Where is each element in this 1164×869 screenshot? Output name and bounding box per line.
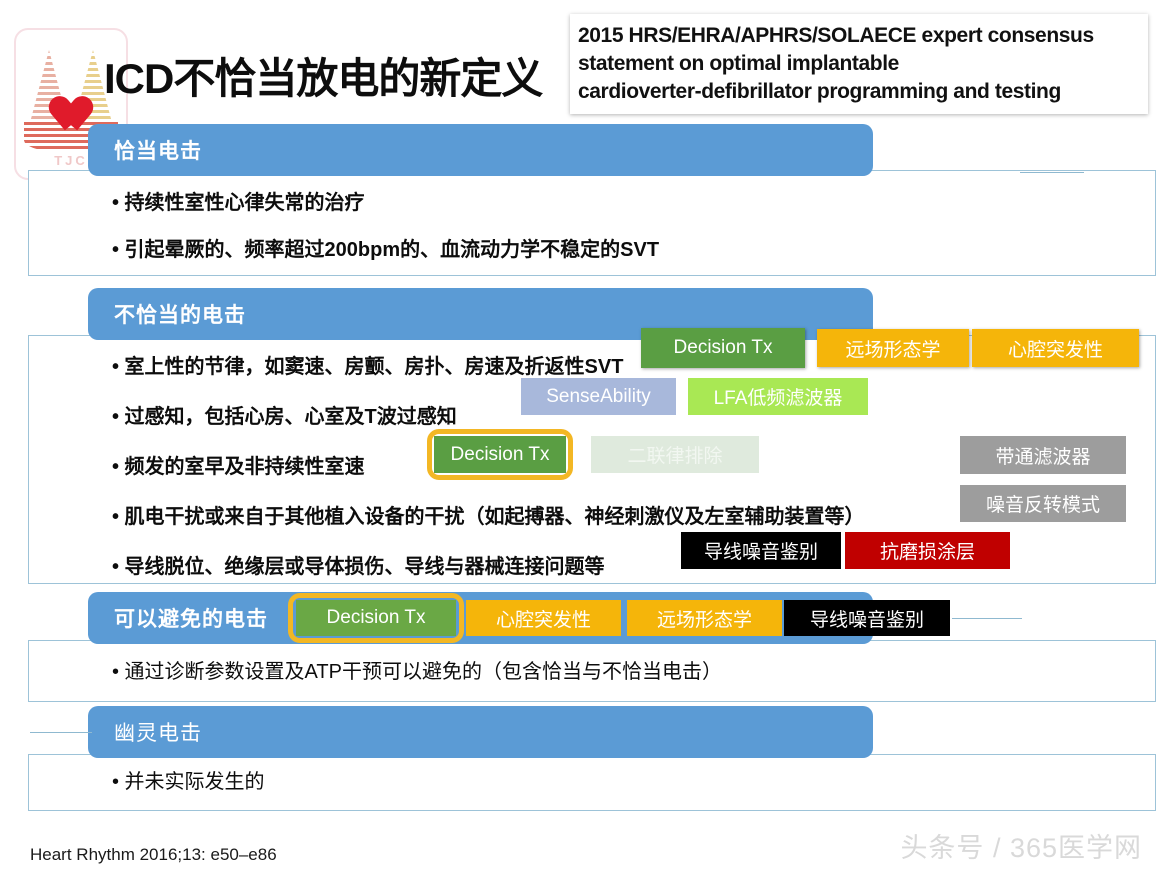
watermark: 头条号 / 365医学网 — [900, 826, 1142, 865]
tag-chamber-onset-1[interactable]: 心腔突发性 — [972, 329, 1139, 367]
section-header-label: 幽灵电击 — [114, 717, 202, 747]
bullet-item: • 肌电干扰或来自于其他植入设备的干扰（如起搏器、神经刺激仪及左室辅助装置等） — [112, 500, 865, 529]
citation-line-2: statement on optimal implantable — [578, 50, 1142, 78]
section-bullets-appropriate-shock: • 持续性室性心律失常的治疗 • 引起晕厥的、频率超过200bpm的、血流动力学… — [112, 186, 659, 262]
tag-label: 噪音反转模式 — [986, 490, 1100, 517]
tag-chamber-onset-2[interactable]: 心腔突发性 — [466, 600, 621, 636]
section-header-appropriate-shock: 恰当电击 — [88, 124, 873, 176]
tag-label: 远场形态学 — [657, 605, 752, 632]
connector-line-bottom — [30, 732, 92, 733]
connector-line-top — [1020, 172, 1084, 173]
section-bullets-phantom-shock: • 并未实际发生的 — [112, 765, 265, 794]
connector-line-middle — [952, 618, 1022, 619]
heart-icon — [52, 92, 90, 130]
footer-reference: Heart Rhythm 2016;13: e50–e86 — [30, 845, 277, 865]
tag-label: 二联律排除 — [627, 441, 722, 468]
tag-label: 带通滤波器 — [995, 442, 1090, 469]
tag-label: 抗磨损涂层 — [880, 537, 975, 564]
section-header-label: 恰当电击 — [114, 135, 202, 165]
tag-label: Decision Tx — [327, 607, 426, 629]
tag-decision-tx-3[interactable]: Decision Tx — [296, 600, 456, 636]
citation-line-1: 2015 HRS/EHRA/APHRS/SOLAECE expert conse… — [578, 22, 1142, 50]
tag-bigeminy-exclude[interactable]: 二联律排除 — [591, 436, 759, 473]
section-header-label: 不恰当的电击 — [114, 299, 246, 329]
citation-line-3: cardioverter-defibrillator programming a… — [578, 78, 1142, 106]
tag-lfa-filter[interactable]: LFA低频滤波器 — [688, 378, 868, 415]
bullet-item: • 通过诊断参数设置及ATP干预可以避免的（包含恰当与不恰当电击） — [112, 655, 722, 684]
tag-label: SenseAbility — [546, 386, 651, 408]
slide-canvas: TJC ICD不恰当放电的新定义 2015 HRS/EHRA/APHRS/SOL… — [0, 0, 1164, 869]
tag-noise-reversion[interactable]: 噪音反转模式 — [960, 485, 1126, 522]
tag-label: 心腔突发性 — [496, 605, 591, 632]
tag-label: 导线噪音鉴别 — [810, 605, 924, 632]
citation-box: 2015 HRS/EHRA/APHRS/SOLAECE expert conse… — [570, 14, 1148, 114]
section-header-phantom-shock: 幽灵电击 — [88, 706, 873, 758]
tag-decision-tx-2[interactable]: Decision Tx — [434, 436, 566, 473]
tag-bandpass-filter[interactable]: 带通滤波器 — [960, 436, 1126, 474]
tag-label: Decision Tx — [674, 337, 773, 359]
tag-label: 远场形态学 — [845, 335, 940, 362]
section-header-label: 可以避免的电击 — [114, 603, 268, 633]
tag-decision-tx-1[interactable]: Decision Tx — [641, 328, 805, 368]
tag-far-field-1[interactable]: 远场形态学 — [817, 329, 969, 367]
bullet-item: • 引起晕厥的、频率超过200bpm的、血流动力学不稳定的SVT — [112, 233, 659, 262]
tag-senseability[interactable]: SenseAbility — [521, 378, 676, 415]
tag-label: 心腔突发性 — [1008, 335, 1103, 362]
tag-label: LFA低频滤波器 — [714, 383, 843, 410]
bullet-item: • 持续性室性心律失常的治疗 — [112, 186, 659, 215]
tag-lead-noise-1[interactable]: 导线噪音鉴别 — [681, 532, 841, 569]
bullet-item: • 并未实际发生的 — [112, 765, 265, 794]
page-title: ICD不恰当放电的新定义 — [104, 58, 542, 100]
tag-label: 导线噪音鉴别 — [704, 537, 818, 564]
tag-anti-abrasion[interactable]: 抗磨损涂层 — [845, 532, 1010, 569]
tag-label: Decision Tx — [451, 444, 550, 466]
section-bullets-avoidable-shock: • 通过诊断参数设置及ATP干预可以避免的（包含恰当与不恰当电击） — [112, 655, 722, 684]
tag-far-field-2[interactable]: 远场形态学 — [627, 600, 782, 636]
tag-lead-noise-2[interactable]: 导线噪音鉴别 — [784, 600, 950, 636]
